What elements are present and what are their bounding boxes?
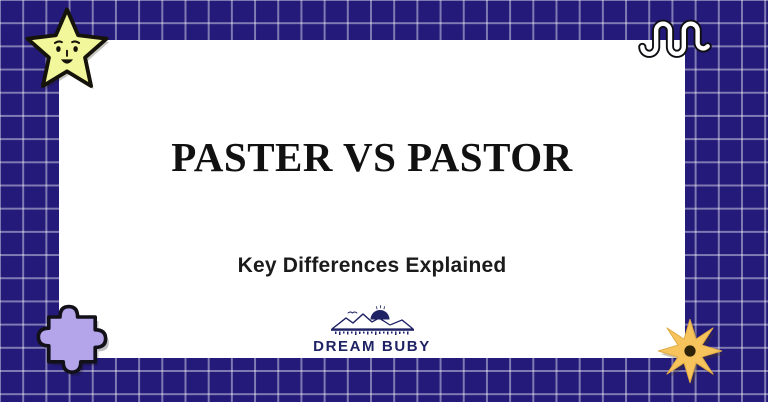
page-subtitle: Key Differences Explained xyxy=(59,255,685,276)
brand-logo: DREAM BUBY xyxy=(282,305,462,355)
brand-name: DREAM BUBY xyxy=(313,338,431,355)
wave-squiggle-icon xyxy=(637,18,713,62)
eight-point-burst-icon xyxy=(657,318,723,384)
content-card-inner: PASTER VS PASTOR Key Differences Explain… xyxy=(59,40,685,358)
poster-canvas: PASTER VS PASTOR Key Differences Explain… xyxy=(0,0,768,402)
smiling-star-icon xyxy=(24,6,110,92)
mountain-sunrise-icon xyxy=(320,305,424,337)
content-card: PASTER VS PASTOR Key Differences Explain… xyxy=(59,40,685,358)
page-title: PASTER VS PASTOR xyxy=(59,137,685,178)
puzzle-piece-icon xyxy=(36,300,116,382)
